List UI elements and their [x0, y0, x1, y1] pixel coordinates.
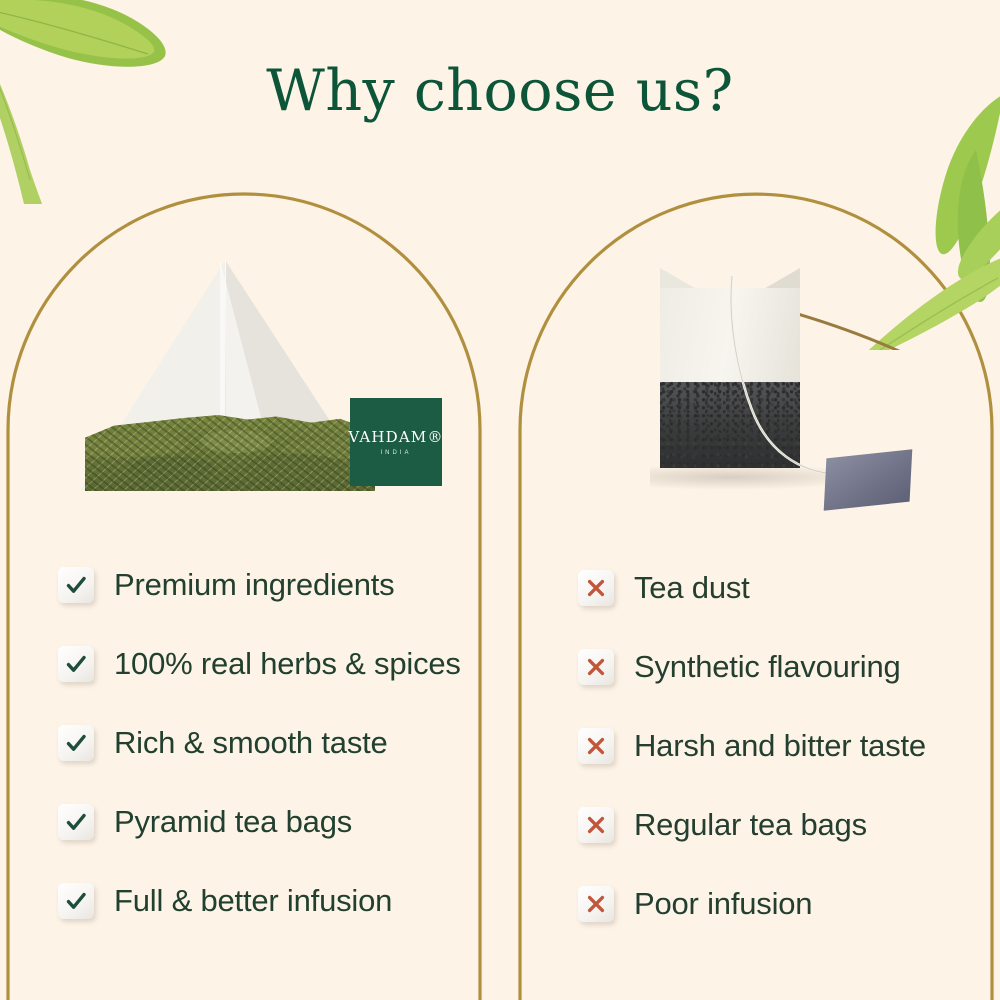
check-icon [58, 567, 94, 603]
pyramid-highlight [220, 260, 280, 490]
check-icon [58, 804, 94, 840]
bag-string [640, 258, 940, 528]
pyramid-face-left [80, 260, 225, 490]
pyramid-face-right [225, 260, 375, 490]
list-item: Synthetic flavouring [578, 627, 978, 706]
brand-subtitle: INDIA [380, 450, 411, 456]
comparison-infographic: Why choose us? VAHDAM® INDIA [0, 0, 1000, 1000]
page-title: Why choose us? [0, 58, 1000, 124]
cross-icon [578, 649, 614, 685]
bag-fold-right [755, 268, 800, 294]
list-item-label: Harsh and bitter taste [634, 728, 926, 764]
benefits-list-vahdam: Premium ingredients 100% real herbs & sp… [58, 545, 488, 940]
list-item-label: Full & better infusion [114, 883, 392, 919]
drawbacks-list-regular: Tea dust Synthetic flavouring Harsh and … [578, 548, 978, 943]
tea-dust-fill [660, 382, 800, 468]
product-image-regular-tea-bag [600, 250, 980, 530]
list-item-label: 100% real herbs & spices [114, 646, 461, 682]
list-item-label: Regular tea bags [634, 807, 867, 843]
list-item: Poor infusion [578, 864, 978, 943]
bag-paper-body [660, 288, 800, 468]
drop-shadow [650, 464, 880, 490]
cross-icon [578, 807, 614, 843]
list-item: Harsh and bitter taste [578, 706, 978, 785]
tea-leaf-sprig-top-right [798, 90, 1000, 350]
check-icon [58, 646, 94, 682]
list-item: 100% real herbs & spices [58, 624, 488, 703]
product-image-pyramid-tea-bag: VAHDAM® INDIA [60, 250, 460, 520]
list-item: Regular tea bags [578, 785, 978, 864]
check-icon [58, 725, 94, 761]
list-item: Pyramid tea bags [58, 782, 488, 861]
whole-leaf-tea-fill [85, 415, 375, 491]
list-item: Premium ingredients [58, 545, 488, 624]
brand-name: VAHDAM® [348, 428, 443, 446]
cross-icon [578, 728, 614, 764]
bag-fold-left [660, 268, 705, 294]
leaf-texture [85, 415, 375, 491]
square-tea-bag [640, 258, 940, 528]
list-item-label: Tea dust [634, 570, 750, 606]
list-item-label: Rich & smooth taste [114, 725, 388, 761]
list-item-label: Pyramid tea bags [114, 804, 352, 840]
check-icon [58, 883, 94, 919]
list-item: Rich & smooth taste [58, 703, 488, 782]
cross-icon [578, 570, 614, 606]
pyramid-seam [225, 260, 226, 490]
list-item-label: Poor infusion [634, 886, 812, 922]
list-item-label: Premium ingredients [114, 567, 394, 603]
list-item: Full & better infusion [58, 861, 488, 940]
bag-paper-tag [824, 449, 913, 510]
list-item: Tea dust [578, 548, 978, 627]
list-item-label: Synthetic flavouring [634, 649, 901, 685]
pyramid-tea-bag [80, 260, 420, 510]
cross-icon [578, 886, 614, 922]
vahdam-logo-badge: VAHDAM® INDIA [350, 398, 442, 486]
